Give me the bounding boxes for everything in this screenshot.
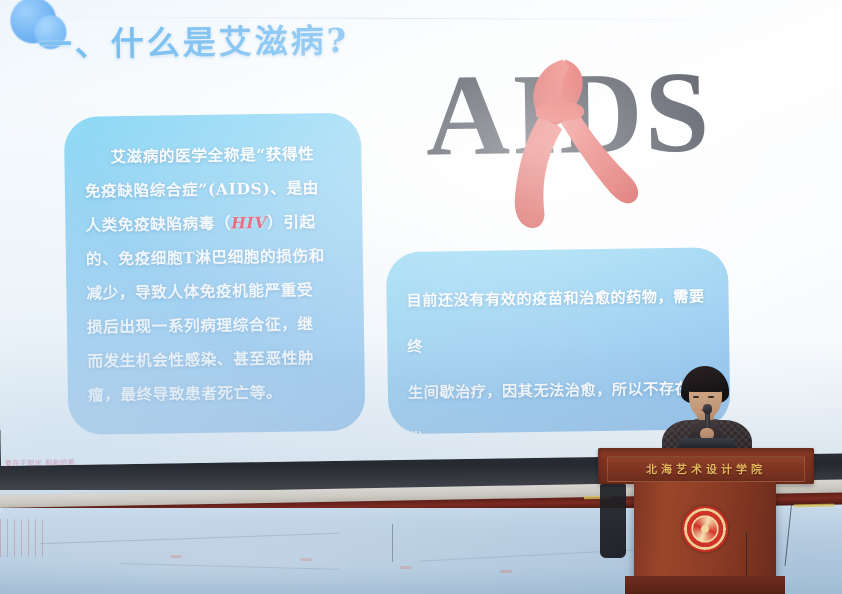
panel1-line-4: 的、免疫细胞T淋巴细胞的损伤和 [86, 246, 325, 269]
speaker-eye-right [708, 396, 714, 398]
panel1-line-3a: 人类免疫缺陷病毒（ [85, 214, 231, 235]
panel1-line-8: 瘤，最终导致患者死亡等。 [88, 383, 283, 405]
poster-note-text: 爱在于阳光 阳和的希望 [5, 457, 77, 466]
slide-title: 一、什么是艾滋病? [38, 23, 349, 64]
hiv-highlight: HIV [231, 213, 267, 233]
podium: 北海艺术设计学院 [598, 444, 814, 594]
text-panel-definition: 艾滋病的医学全称是“获得性 免疫缺陷综合症”(AIDS)、是由 人类免疫缺陷病毒… [64, 113, 366, 435]
podium-institution-text: 北海艺术设计学院 [646, 461, 766, 477]
floor-grate [0, 519, 48, 557]
podium-nameplate: 北海艺术设计学院 [607, 456, 805, 482]
podium-side-panel [600, 484, 626, 558]
aids-logo: AIDS [425, 47, 746, 232]
panel1-line-1: 艾滋病的医学全称是“获得性 [110, 144, 314, 166]
speaker-fringe [685, 375, 726, 392]
panel1-line-6: 损后出现一系列病理综合征，继 [87, 314, 314, 336]
podium-base [625, 576, 785, 594]
panel1-line-3b: ）引起 [267, 212, 316, 232]
microphone-head-icon [703, 404, 712, 414]
podium-desktop: 北海艺术设计学院 [598, 448, 814, 484]
panel1-line-5: 减少，导致人体免疫机能严重受 [86, 280, 313, 302]
aids-awareness-ribbon-icon [491, 54, 644, 230]
panel1-line-7: 而发生机会性感染、甚至恶性肿 [87, 348, 314, 370]
lecture-hall-photo: 一、什么是艾滋病? AIDS [0, 0, 842, 594]
speaker-eye-left [693, 396, 699, 398]
panel1-line-2: 免疫缺陷综合症”(AIDS)、是由 [85, 178, 319, 200]
school-seal-center [701, 525, 709, 533]
panel2-line-1: 目前还没有有效的疫苗和治愈的药物，需要终 [406, 287, 704, 355]
mic-stand-pole [392, 524, 393, 562]
screen-seam [54, 16, 754, 20]
